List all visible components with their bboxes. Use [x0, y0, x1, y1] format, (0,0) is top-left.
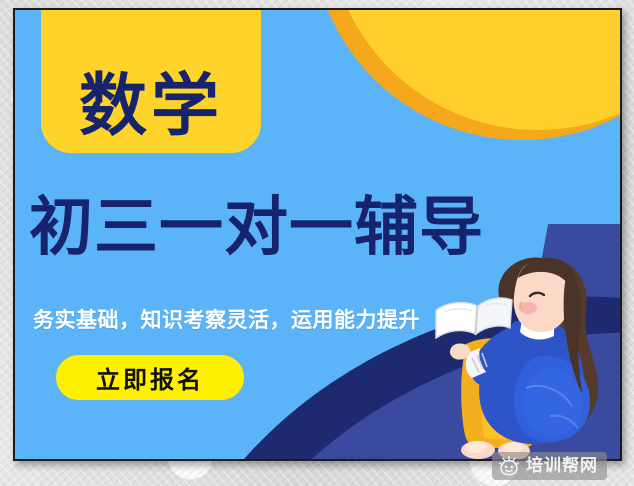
signup-button-label: 立即报名 — [96, 360, 204, 395]
subject-badge-label: 数学 — [79, 73, 223, 141]
poster-subtitle: 务实基础，知识考察灵活，运用能力提升 — [33, 304, 420, 334]
sun-smiley-icon — [498, 455, 520, 477]
promo-poster: 数学 — [13, 8, 622, 461]
student-illustration — [430, 248, 622, 461]
watermark: 培训帮网 — [492, 452, 607, 480]
poster-headline: 初三一对一辅导 — [29, 196, 622, 260]
watermark-text: 培训帮网 — [526, 458, 598, 475]
signup-button[interactable]: 立即报名 — [56, 355, 244, 400]
page-backdrop: 数学 — [0, 0, 634, 486]
subject-badge: 数学 — [41, 8, 261, 153]
